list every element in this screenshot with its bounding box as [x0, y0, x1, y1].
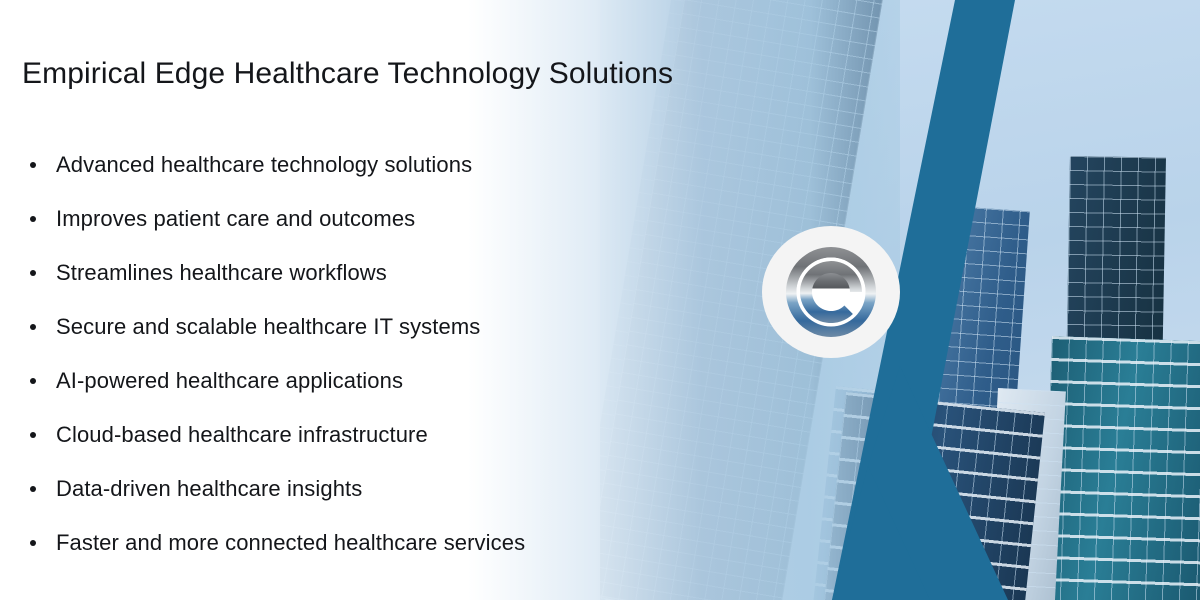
bullet-dot-icon: [30, 486, 36, 492]
list-item: Streamlines healthcare workflows: [22, 246, 525, 300]
bullet-dot-icon: [30, 324, 36, 330]
list-item: Faster and more connected healthcare ser…: [22, 516, 525, 570]
bullet-dot-icon: [30, 432, 36, 438]
list-item-label: Secure and scalable healthcare IT system…: [56, 314, 480, 339]
list-item: Secure and scalable healthcare IT system…: [22, 300, 525, 354]
bullet-dot-icon: [30, 216, 36, 222]
text-content: Empirical Edge Healthcare Technology Sol…: [0, 0, 860, 600]
list-item-label: Improves patient care and outcomes: [56, 206, 415, 231]
list-item-label: Advanced healthcare technology solutions: [56, 152, 472, 177]
list-item-label: Streamlines healthcare workflows: [56, 260, 387, 285]
list-item: Improves patient care and outcomes: [22, 192, 525, 246]
list-item: Data-driven healthcare insights: [22, 462, 525, 516]
page-title: Empirical Edge Healthcare Technology Sol…: [22, 57, 673, 91]
slide-canvas: Empirical Edge Healthcare Technology Sol…: [0, 0, 1200, 600]
list-item: Advanced healthcare technology solutions: [22, 138, 525, 192]
bullet-list: Advanced healthcare technology solutions…: [22, 138, 525, 570]
list-item-label: Faster and more connected healthcare ser…: [56, 530, 525, 555]
list-item: AI-powered healthcare applications: [22, 354, 525, 408]
list-item-label: Data-driven healthcare insights: [56, 476, 362, 501]
bullet-dot-icon: [30, 162, 36, 168]
list-item-label: AI-powered healthcare applications: [56, 368, 403, 393]
bullet-dot-icon: [30, 540, 36, 546]
bullet-dot-icon: [30, 270, 36, 276]
list-item-label: Cloud-based healthcare infrastructure: [56, 422, 428, 447]
bullet-dot-icon: [30, 378, 36, 384]
list-item: Cloud-based healthcare infrastructure: [22, 408, 525, 462]
